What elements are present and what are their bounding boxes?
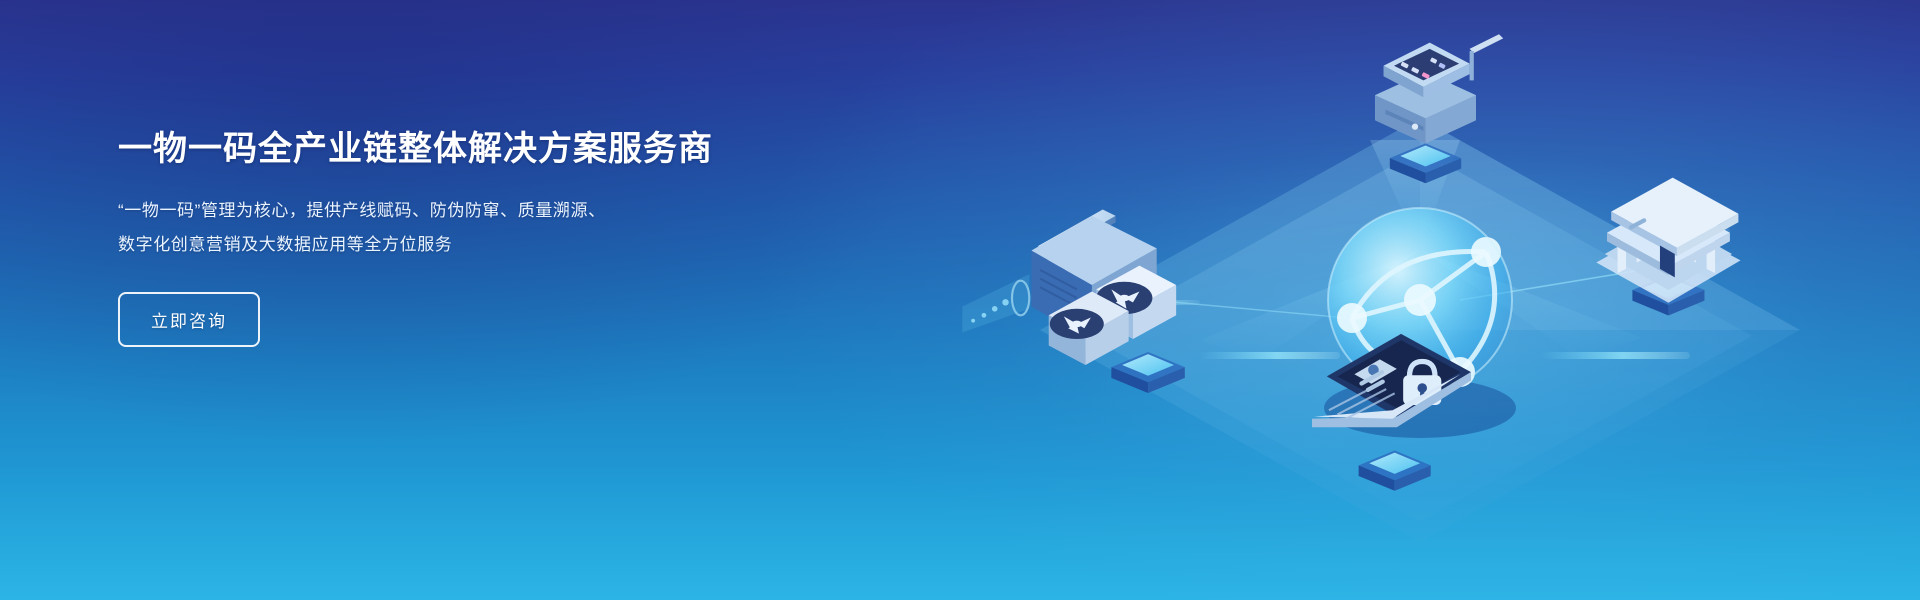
hero-illustration <box>900 0 1920 600</box>
hero-banner: 一物一码全产业链整体解决方案服务商 “一物一码”管理为核心，提供产线赋码、防伪防… <box>0 0 1920 600</box>
hero-subtitle: “一物一码”管理为核心，提供产线赋码、防伪防窜、质量溯源、 数字化创意营销及大数… <box>118 194 818 262</box>
page-title: 一物一码全产业链整体解决方案服务商 <box>118 128 818 172</box>
hero-copy: 一物一码全产业链整体解决方案服务商 “一物一码”管理为核心，提供产线赋码、防伪防… <box>118 128 818 347</box>
hero-subtitle-line-1: “一物一码”管理为核心，提供产线赋码、防伪防窜、质量溯源、 <box>118 194 818 228</box>
hero-subtitle-line-2: 数字化创意营销及大数据应用等全方位服务 <box>118 228 818 262</box>
consult-now-button[interactable]: 立即咨询 <box>118 292 260 347</box>
